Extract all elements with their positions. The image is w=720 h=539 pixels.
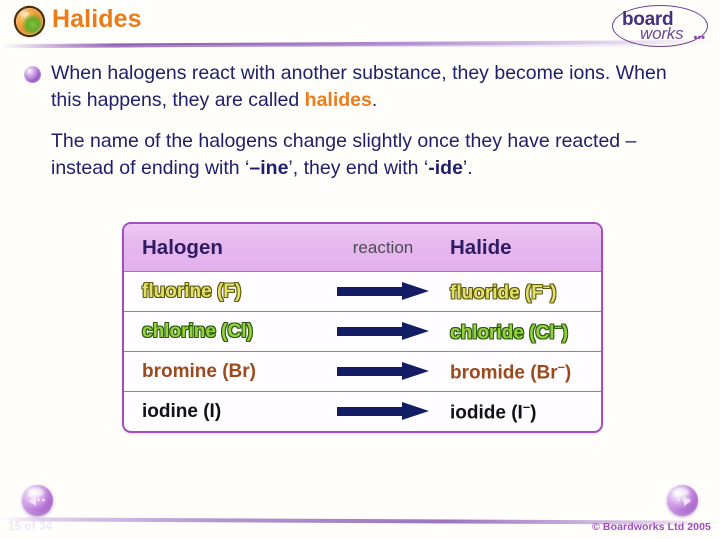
cell-halide-iodide-text: iodide (I (450, 402, 523, 423)
paragraph-one-highlight: halides (305, 89, 372, 111)
table-row: fluorine (F) fluoride (F–) (124, 271, 601, 311)
halogen-badge-icon (16, 8, 43, 35)
cell-halide-iodide: iodide (I–) (444, 399, 601, 424)
paragraph-two-text-b: ’, they end with ‘ (288, 157, 428, 179)
logo-dots-icon: ••• (693, 32, 705, 44)
next-dots-icon: ••• (677, 495, 692, 506)
copyright-notice: © Boardworks Ltd 2005 (592, 521, 711, 533)
paragraph-one: When halogens react with another substan… (51, 60, 681, 114)
bullet-sphere-icon (24, 66, 41, 83)
cell-halogen-bromine: bromine (Br) (124, 361, 322, 383)
cell-halogen-fluorine: fluorine (F) (124, 281, 322, 303)
next-slide-button[interactable]: ••• (667, 485, 698, 516)
slide-canvas: Halides board works ••• When halogens re… (0, 0, 720, 539)
cell-halide-chloride-tail: ) (562, 322, 568, 343)
cell-halogen-chlorine: chlorine (Cl) (124, 321, 322, 343)
cell-halide-iodide-tail: ) (530, 402, 536, 423)
logo-word-works: works (640, 24, 683, 44)
right-arrow-icon (337, 403, 429, 419)
cell-halide-bromide: bromide (Br–) (444, 359, 601, 384)
page-number: 15 of 34 (8, 521, 52, 533)
paragraph-one-text-b: . (372, 89, 377, 111)
previous-slide-button[interactable]: ••• (22, 485, 53, 516)
table-row: iodine (I) iodide (I–) (124, 391, 601, 431)
cell-halide-fluoride: fluoride (F–) (444, 279, 601, 304)
cell-halide-fluoride-text: fluoride (F (450, 282, 543, 303)
cell-reaction-arrow-bromine (322, 363, 444, 381)
table-row: chlorine (Cl) chloride (Cl–) (124, 311, 601, 351)
boardworks-logo: board works ••• (608, 2, 712, 50)
prev-dots-icon: ••• (32, 495, 47, 506)
cell-reaction-arrow-chlorine (322, 323, 444, 341)
paragraph-two-text-c: ’. (463, 157, 473, 179)
paragraph-two-bold-ine: –ine (249, 157, 288, 179)
cell-halide-bromide-charge: – (558, 359, 565, 374)
cell-halogen-iodine: iodine (I) (124, 401, 322, 423)
cell-halide-bromide-tail: ) (565, 362, 571, 383)
cell-halide-iodide-charge: – (523, 399, 530, 414)
cell-halide-chloride-text: chloride (Cl (450, 322, 555, 343)
right-arrow-icon (337, 323, 429, 339)
cell-halide-chloride: chloride (Cl–) (444, 319, 601, 344)
right-arrow-icon (337, 363, 429, 379)
paragraph-two-bold-ide: -ide (428, 157, 463, 179)
column-header-reaction: reaction (322, 238, 444, 258)
cell-halide-chloride-charge: – (555, 319, 562, 334)
right-arrow-icon (337, 283, 429, 299)
table-header-row: Halogen reaction Halide (124, 224, 601, 271)
cell-reaction-arrow-fluorine (322, 283, 444, 301)
paragraph-two: The name of the halogens change slightly… (51, 128, 691, 182)
column-header-halide: Halide (444, 236, 601, 260)
page-title: Halides (52, 5, 142, 34)
column-header-halogen: Halogen (124, 236, 322, 260)
halide-table: Halogen reaction Halide fluorine (F) flu… (122, 222, 603, 433)
table-row: bromine (Br) bromide (Br–) (124, 351, 601, 391)
cell-halide-fluoride-tail: ) (550, 282, 556, 303)
cell-halide-bromide-text: bromide (Br (450, 362, 558, 383)
cell-reaction-arrow-iodine (322, 403, 444, 421)
